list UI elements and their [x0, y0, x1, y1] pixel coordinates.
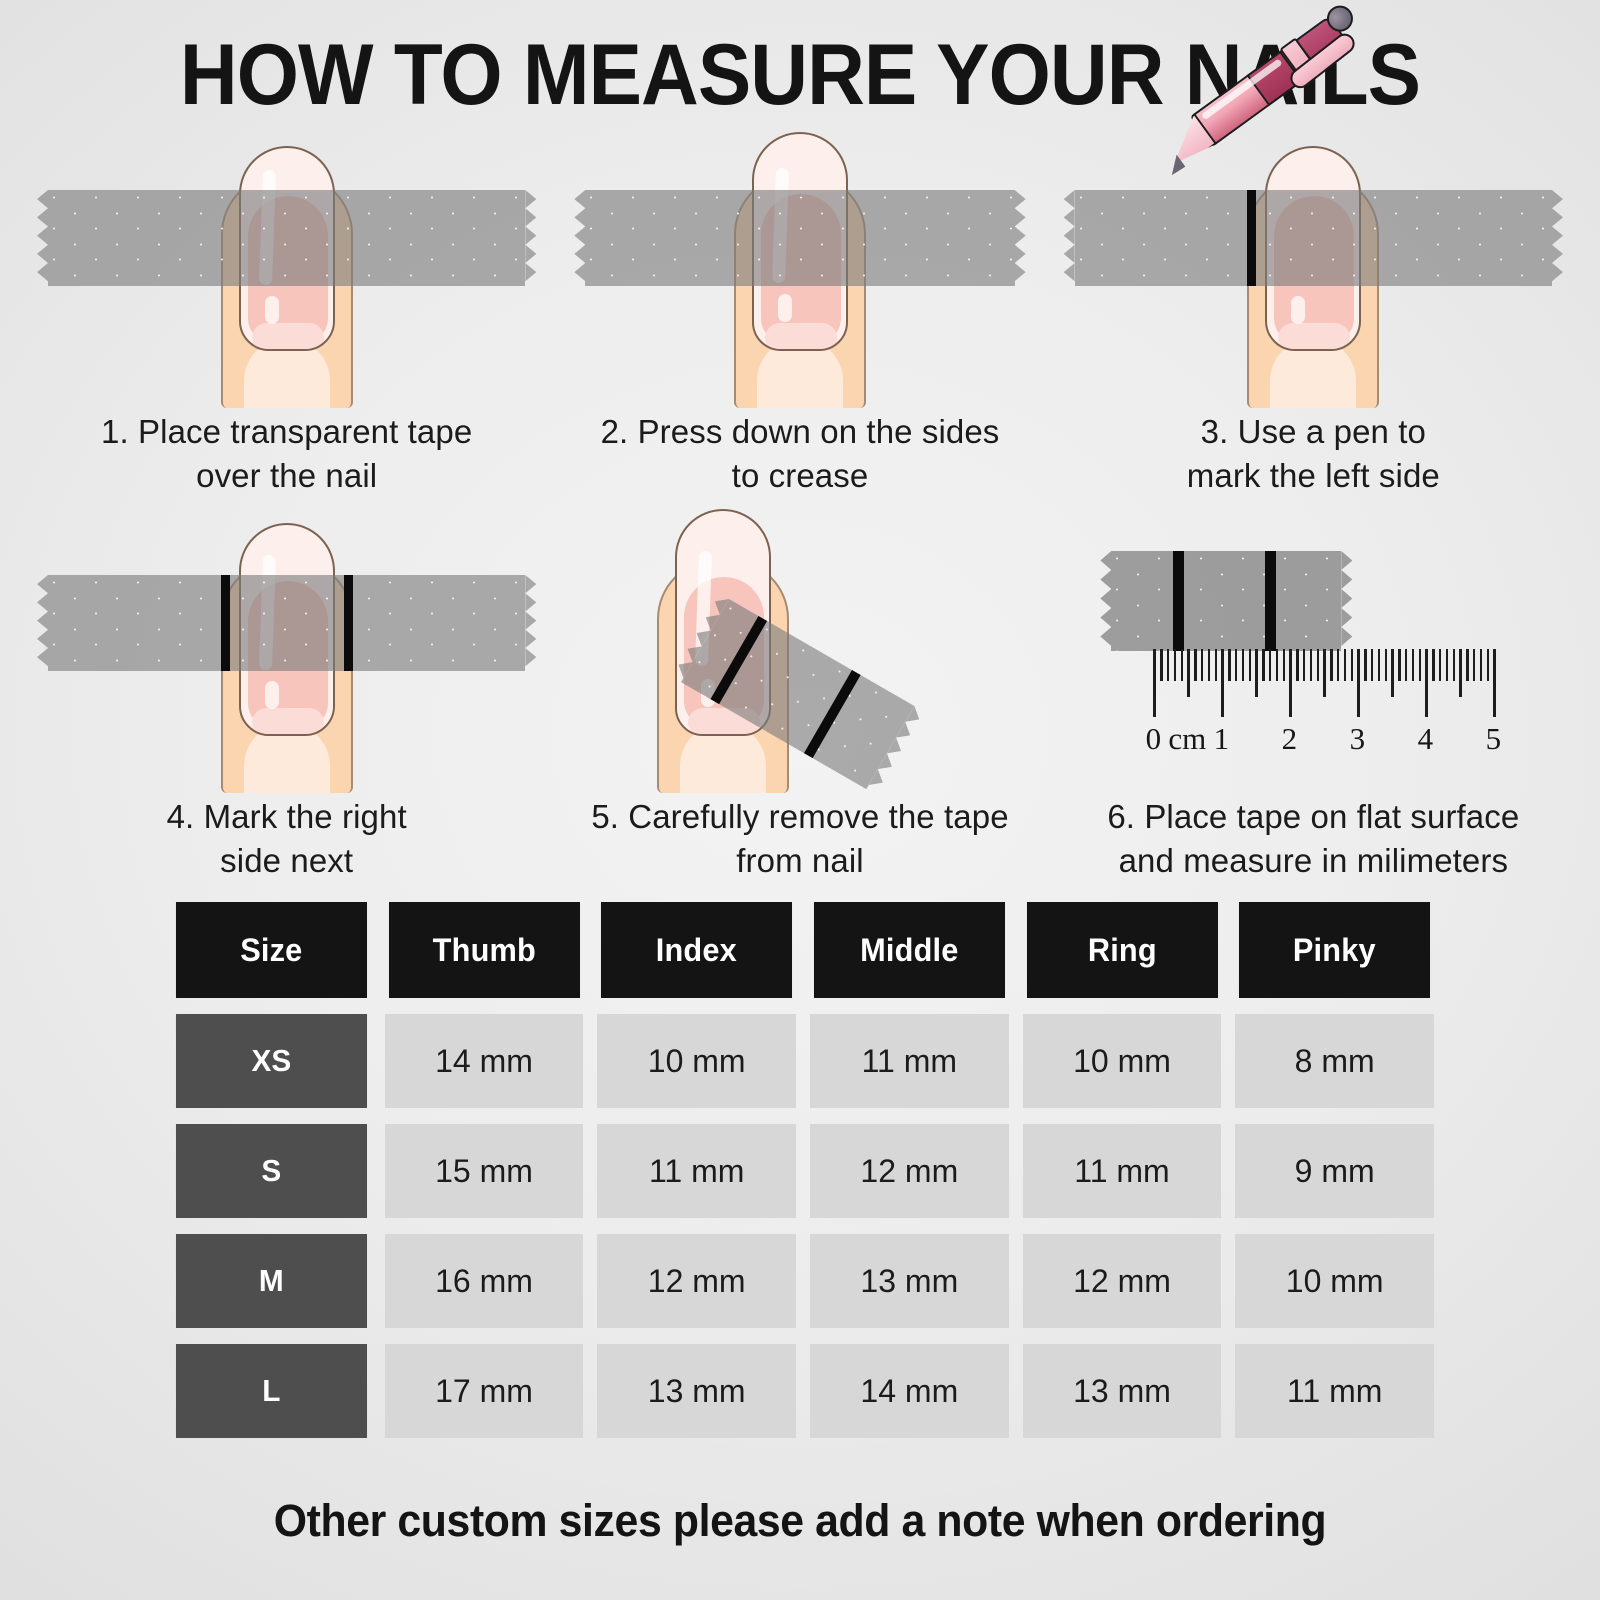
steps-grid: 1. Place transparent tapeover the nail 2…: [30, 118, 1570, 888]
ruler-tick-cm: [1153, 649, 1156, 717]
table-header-ring: Ring: [1027, 902, 1218, 998]
ruler-tick-mm: [1181, 649, 1183, 681]
table-header-thumb: Thumb: [389, 902, 580, 998]
table-header-pinky: Pinky: [1239, 902, 1430, 998]
table-size-cell: S: [176, 1124, 367, 1218]
creased-tape: [585, 190, 1014, 286]
table-cell: 13 mm: [810, 1234, 1009, 1328]
ruler-tick-cm: [1289, 649, 1292, 717]
ruler-tick-mm: [1242, 649, 1244, 681]
step-6-caption: 6. Place tape on flat surfaceand measure…: [1057, 795, 1570, 882]
step-5-caption: 5. Carefully remove the tapefrom nail: [543, 795, 1056, 882]
nail-tip-band: [252, 323, 324, 349]
ruler-tick-mm: [1351, 649, 1353, 681]
left-pen-mark: [1173, 551, 1184, 651]
ruler-unit-label: cm: [1168, 721, 1206, 757]
ruler-tick-cm: [1425, 649, 1428, 717]
ruler-tick-mm: [1276, 649, 1278, 681]
ruler-tick-half: [1323, 649, 1325, 697]
ruler-tick-mm: [1398, 649, 1400, 681]
nail-shine-dot: [1291, 296, 1305, 324]
tape-texture-dots: [1075, 190, 1552, 286]
ruler-tick-mm: [1228, 649, 1230, 681]
table-header-size: Size: [176, 902, 367, 998]
table-cell: 11 mm: [1235, 1344, 1434, 1438]
tape-texture-dots: [48, 575, 525, 671]
ruler-label: 5: [1486, 721, 1502, 757]
step-4-illustration: [30, 503, 543, 793]
table-cell: 12 mm: [1023, 1234, 1222, 1328]
ruler-tick-cm: [1357, 649, 1360, 717]
ruler-tick-mm: [1371, 649, 1373, 681]
transparent-tape: [48, 575, 525, 671]
step-1-illustration: [30, 118, 543, 408]
size-chart-table: SizeThumbIndexMiddleRingPinkyXS14 mm10 m…: [172, 902, 1434, 1438]
ruler-illustration: 012345cm: [1103, 503, 1523, 793]
ruler-tick-mm: [1480, 649, 1482, 681]
tape-texture-dots: [1111, 551, 1341, 651]
table-size-cell: L: [176, 1344, 367, 1438]
measured-tape: [1111, 551, 1341, 651]
table-size-cell: XS: [176, 1014, 367, 1108]
ruler-label: 2: [1282, 721, 1298, 757]
transparent-tape: [48, 190, 525, 286]
ruler-tick-mm: [1283, 649, 1285, 681]
table-header-index: Index: [601, 902, 792, 998]
ruler-tick-mm: [1473, 649, 1475, 681]
ruler-tick-mm: [1453, 649, 1455, 681]
ruler-tick-mm: [1249, 649, 1251, 681]
ruler-scale: 012345cm: [1153, 649, 1493, 769]
ruler-tick-mm: [1208, 649, 1210, 681]
table-cell: 13 mm: [1023, 1344, 1222, 1438]
ruler-tick-mm: [1269, 649, 1271, 681]
footer-note: Other custom sizes please add a note whe…: [40, 1495, 1560, 1547]
step-3-illustration: [1057, 118, 1570, 408]
step-6-illustration: 012345cm: [1057, 503, 1570, 793]
ruler-tick-mm: [1330, 649, 1332, 681]
table-cell: 10 mm: [597, 1014, 796, 1108]
table-cell: 11 mm: [1023, 1124, 1222, 1218]
tape-texture-dots: [585, 190, 1014, 286]
table-cell: 11 mm: [597, 1124, 796, 1218]
step-5: 5. Carefully remove the tapefrom nail: [543, 503, 1056, 888]
ruler-tick-half: [1459, 649, 1461, 697]
step-5-illustration: [543, 503, 1056, 793]
ruler-label: 1: [1214, 721, 1230, 757]
ruler-tick-mm: [1174, 649, 1176, 681]
ruler-tick-mm: [1439, 649, 1441, 681]
table-cell: 15 mm: [385, 1124, 584, 1218]
nail-tip-band: [765, 323, 837, 349]
ruler-tick-mm: [1364, 649, 1366, 681]
table-cell: 14 mm: [810, 1344, 1009, 1438]
ruler-tick-mm: [1466, 649, 1468, 681]
ruler-tick-mm: [1160, 649, 1162, 681]
table-cell: 12 mm: [810, 1124, 1009, 1218]
table-cell: 13 mm: [597, 1344, 796, 1438]
table-cell: 17 mm: [385, 1344, 584, 1438]
right-pen-mark: [1265, 551, 1276, 651]
ruler-tick-mm: [1432, 649, 1434, 681]
table-cell: 12 mm: [597, 1234, 796, 1328]
ruler-tick-mm: [1378, 649, 1380, 681]
table-size-cell: M: [176, 1234, 367, 1328]
ruler-tick-mm: [1215, 649, 1217, 681]
ruler-tick-mm: [1385, 649, 1387, 681]
nail-tip-band: [252, 708, 324, 734]
table-cell: 11 mm: [810, 1014, 1009, 1108]
ruler-tick-mm: [1235, 649, 1237, 681]
nail-shine-dot: [778, 294, 792, 322]
step-3: 3. Use a pen tomark the left side: [1057, 118, 1570, 503]
ruler-tick-mm: [1317, 649, 1319, 681]
tape-texture-dots: [48, 190, 525, 286]
ruler-tick-cm: [1221, 649, 1224, 717]
table-cell: 10 mm: [1235, 1234, 1434, 1328]
step-4: 4. Mark the rightside next: [30, 503, 543, 888]
ruler-tick-mm: [1262, 649, 1264, 681]
ruler-tick-mm: [1487, 649, 1489, 681]
ruler-label: 4: [1418, 721, 1434, 757]
ruler-label: 0: [1146, 721, 1162, 757]
step-2-caption: 2. Press down on the sidesto crease: [543, 410, 1056, 497]
ruler-tick-cm: [1493, 649, 1496, 717]
nail-tip-band: [1278, 323, 1350, 349]
ruler-label: 3: [1350, 721, 1366, 757]
ruler-tick-half: [1255, 649, 1257, 697]
ruler-tick-mm: [1405, 649, 1407, 681]
transparent-tape: [1075, 190, 1552, 286]
ruler-tick-mm: [1337, 649, 1339, 681]
ruler-tick-mm: [1344, 649, 1346, 681]
ruler-tick-mm: [1296, 649, 1298, 681]
table-header-middle: Middle: [814, 902, 1005, 998]
ruler-tick-mm: [1194, 649, 1196, 681]
right-pen-mark: [344, 575, 353, 671]
ruler-tick-mm: [1419, 649, 1421, 681]
step-1: 1. Place transparent tapeover the nail: [30, 118, 543, 503]
table-cell: 16 mm: [385, 1234, 584, 1328]
ruler-tick-mm: [1303, 649, 1305, 681]
ruler-tick-mm: [1310, 649, 1312, 681]
left-pen-mark: [221, 575, 230, 671]
ruler-tick-mm: [1201, 649, 1203, 681]
ruler-tick-half: [1391, 649, 1393, 697]
table-cell: 14 mm: [385, 1014, 584, 1108]
step-4-caption: 4. Mark the rightside next: [30, 795, 543, 882]
ruler-tick-mm: [1412, 649, 1414, 681]
step-3-caption: 3. Use a pen tomark the left side: [1057, 410, 1570, 497]
nail-shine-dot: [265, 681, 279, 709]
step-2: 2. Press down on the sidesto crease: [543, 118, 1056, 503]
table-cell: 9 mm: [1235, 1124, 1434, 1218]
left-pen-mark: [1247, 190, 1256, 286]
step-1-caption: 1. Place transparent tapeover the nail: [30, 410, 543, 497]
nail-shine-dot: [265, 296, 279, 324]
table-cell: 10 mm: [1023, 1014, 1222, 1108]
ruler-tick-mm: [1446, 649, 1448, 681]
ruler-tick-half: [1187, 649, 1189, 697]
ruler-tick-mm: [1167, 649, 1169, 681]
step-2-illustration: [543, 118, 1056, 408]
step-6: 012345cm 6. Place tape on flat surfacean…: [1057, 503, 1570, 888]
table-cell: 8 mm: [1235, 1014, 1434, 1108]
